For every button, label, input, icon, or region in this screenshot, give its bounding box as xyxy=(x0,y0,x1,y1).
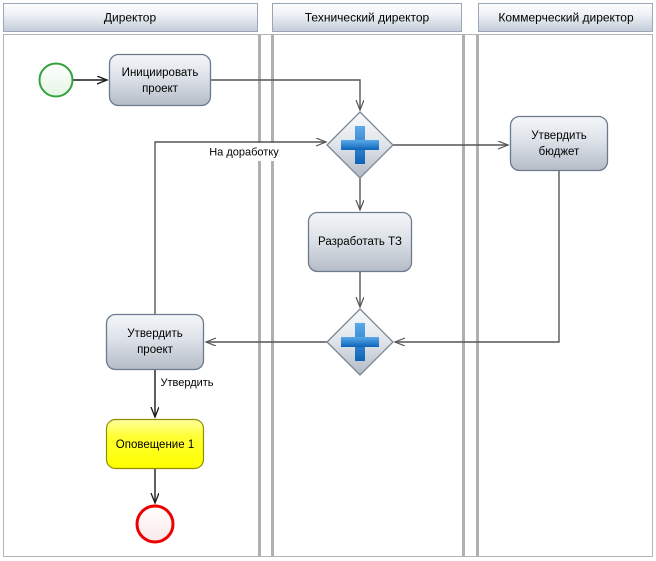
diagram-canvas: Директор Технический директор Коммерческ… xyxy=(0,0,656,561)
task-initiate-project-label-line2: проект xyxy=(142,83,179,95)
lane-header-label-technical-director: Технический директор xyxy=(305,11,430,25)
lane-header-technical-director[interactable]: Технический директор xyxy=(273,4,462,32)
pool-frame xyxy=(4,35,653,557)
task-approve-budget-label-line1: Утвердить xyxy=(531,130,586,142)
lane-header-label-commercial-director: Коммерческий директор xyxy=(498,11,634,25)
node-start-event[interactable] xyxy=(40,64,73,97)
task-develop-spec-label: Разработать ТЗ xyxy=(318,236,402,248)
node-task-develop-spec[interactable]: Разработать ТЗ xyxy=(309,213,412,272)
task-notification-1-label: Оповещение 1 xyxy=(116,439,194,451)
task-approve-project-label-line1: Утвердить xyxy=(127,328,182,340)
task-initiate-project-label-line1: Инициировать xyxy=(122,67,199,79)
lane-header-director[interactable]: Директор xyxy=(4,4,258,32)
task-approve-budget-label-line2: бюджет xyxy=(539,146,580,158)
lane-header-label-director: Директор xyxy=(104,11,157,25)
node-task-approve-project[interactable]: Утвердить проект xyxy=(107,315,204,370)
node-task-initiate-project[interactable]: Инициировать проект xyxy=(110,55,211,106)
edge-label-approve: Утвердить xyxy=(160,377,213,389)
edge-label-rework: На доработку xyxy=(209,146,279,158)
node-task-approve-budget[interactable]: Утвердить бюджет xyxy=(511,117,608,171)
node-task-notification-1[interactable]: Оповещение 1 xyxy=(107,420,204,469)
lane-header-commercial-director[interactable]: Коммерческий директор xyxy=(479,4,653,32)
node-end-event[interactable] xyxy=(137,506,173,542)
task-approve-project-label-line2: проект xyxy=(137,344,174,356)
bpmn-diagram: Директор Технический директор Коммерческ… xyxy=(0,0,656,561)
